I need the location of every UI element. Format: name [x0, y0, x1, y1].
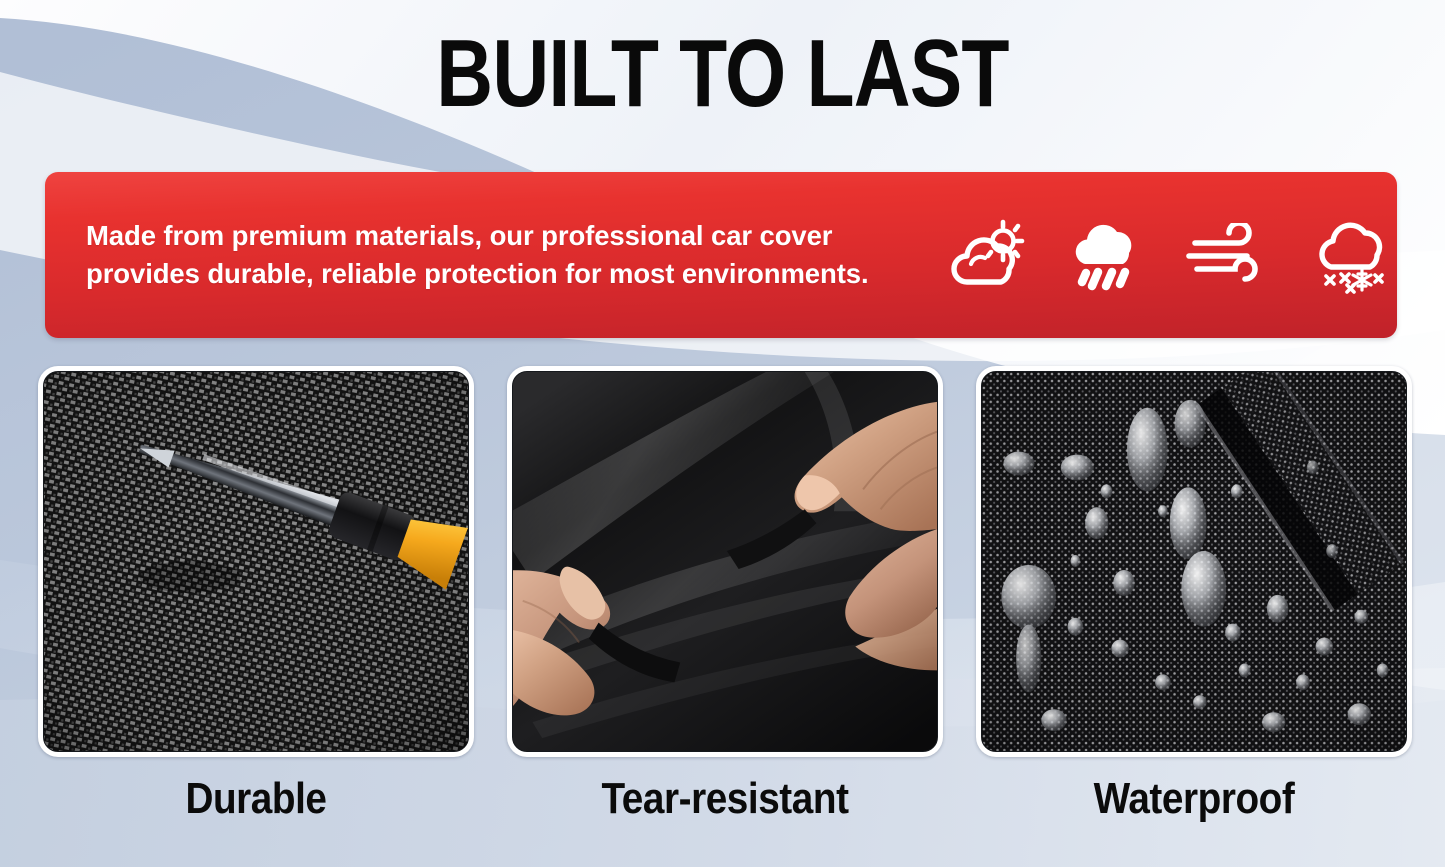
- snow-cloud-icon: [1309, 215, 1397, 295]
- feature-image-frame: [976, 366, 1412, 757]
- feature-durable: Durable: [38, 366, 474, 824]
- feature-description-banner: Made from premium materials, our profess…: [45, 172, 1397, 338]
- page-title: BUILT TO LAST: [130, 26, 1315, 122]
- feature-image-frame: [507, 366, 943, 757]
- woven-fabric-illustration: [44, 372, 468, 751]
- feature-caption: Durable: [64, 774, 448, 824]
- wind-icon: [1185, 223, 1269, 287]
- hands-stretching-fabric-photo: [512, 371, 938, 752]
- banner-description-text: Made from premium materials, our profess…: [45, 217, 943, 294]
- water-beading-fabric-photo: [981, 371, 1407, 752]
- feature-waterproof: Waterproof: [976, 366, 1412, 824]
- feature-tear-resistant: Tear-resistant: [507, 366, 943, 824]
- feature-caption: Waterproof: [1002, 774, 1386, 824]
- weather-icon-group: [949, 215, 1397, 295]
- feature-image-frame: [38, 366, 474, 757]
- sun-behind-cloud-icon: [949, 216, 1029, 294]
- feature-caption: Tear-resistant: [533, 774, 917, 824]
- water-beading-fabric-illustration: [982, 372, 1406, 751]
- feature-panel-row: Durable: [0, 366, 1445, 824]
- rain-cloud-icon: [1069, 216, 1145, 294]
- woven-fabric-with-screwdriver-photo: [43, 371, 469, 752]
- hands-stretching-fabric-illustration: [513, 372, 937, 751]
